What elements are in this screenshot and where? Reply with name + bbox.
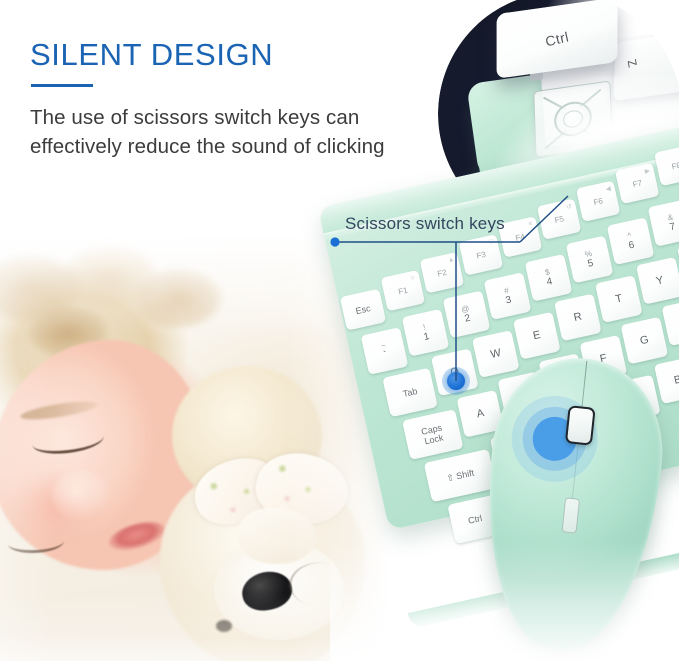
key-label: B	[673, 374, 679, 387]
inset-neighbor-key-label: Z	[625, 57, 640, 69]
key-primary-label: 6	[628, 239, 636, 251]
key-secondary-label: ◀	[605, 184, 612, 193]
key-label: F2	[436, 267, 447, 278]
key-2[interactable]: @2	[443, 291, 491, 339]
key-primary-label: 5	[587, 258, 595, 270]
key-label: Y	[655, 274, 665, 287]
key-secondary-label: □	[489, 238, 494, 246]
mouse-scroll-wheel	[565, 405, 596, 446]
key-5[interactable]: %5	[566, 236, 614, 284]
key-label: A	[475, 407, 485, 420]
teddy-bow	[198, 454, 348, 564]
key-primary-label: 1	[423, 331, 431, 343]
wireless-mouse	[472, 350, 672, 658]
key-label: F5	[554, 214, 565, 225]
key-label: Esc	[355, 303, 372, 316]
key-secondary-label: ▲	[447, 256, 455, 264]
key-1[interactable]: !1	[402, 309, 450, 357]
hotspot-core	[447, 372, 465, 390]
headline-block: SILENT DESIGN The use of scissors switch…	[30, 38, 450, 161]
key-primary-label: `	[383, 349, 389, 361]
key-y[interactable]: Y	[636, 257, 679, 305]
key-secondary-label: ↺	[565, 202, 572, 211]
key-label: Tab	[402, 386, 418, 399]
key-primary-label: 3	[505, 294, 513, 306]
key-label: E	[532, 329, 542, 342]
key-label: R	[573, 311, 583, 324]
subtitle-text: The use of scissors switch keys can effe…	[30, 103, 450, 161]
key-primary-label: 4	[546, 276, 554, 288]
key-label: F7	[632, 178, 643, 189]
key-label: Caps Lock	[420, 422, 445, 446]
inset-keycap-label: Ctrl	[544, 29, 570, 50]
key-`[interactable]: ~`	[361, 327, 409, 375]
key-secondary-label: ≡	[528, 220, 533, 228]
key-primary-label: 7	[669, 221, 677, 233]
title-underline	[31, 84, 93, 87]
key-3[interactable]: #3	[484, 272, 532, 320]
key-secondary-label: ☼	[409, 274, 416, 282]
key-label: F6	[593, 196, 604, 207]
key-label: F3	[475, 249, 486, 260]
child-nose	[52, 470, 112, 522]
key-label: G	[639, 334, 650, 348]
bow-tail	[238, 508, 316, 564]
key-label: ⇧ Shift	[445, 467, 475, 484]
scissors-switch-hotspot[interactable]	[447, 372, 465, 390]
key-primary-label: 2	[464, 313, 472, 325]
key-t[interactable]: T	[595, 275, 643, 323]
key-label: W	[489, 347, 502, 361]
key-4[interactable]: $4	[525, 254, 573, 302]
key-label: F1	[397, 285, 408, 296]
key-g[interactable]: G	[621, 317, 669, 365]
key-label: Ctrl	[467, 513, 483, 526]
key-6[interactable]: ^6	[607, 217, 655, 265]
key-label: T	[614, 292, 623, 305]
key-r[interactable]: R	[554, 294, 602, 342]
key-secondary-label: ▶	[644, 166, 651, 175]
key-label: F8	[671, 160, 679, 171]
sleeping-child-photo	[0, 232, 390, 661]
key-label: F4	[515, 232, 526, 243]
teddy-eye	[216, 620, 232, 632]
product-feature-image: SILENT DESIGN The use of scissors switch…	[0, 0, 679, 661]
page-title: SILENT DESIGN	[30, 38, 450, 71]
callout-label: Scissors switch keys	[345, 214, 505, 234]
